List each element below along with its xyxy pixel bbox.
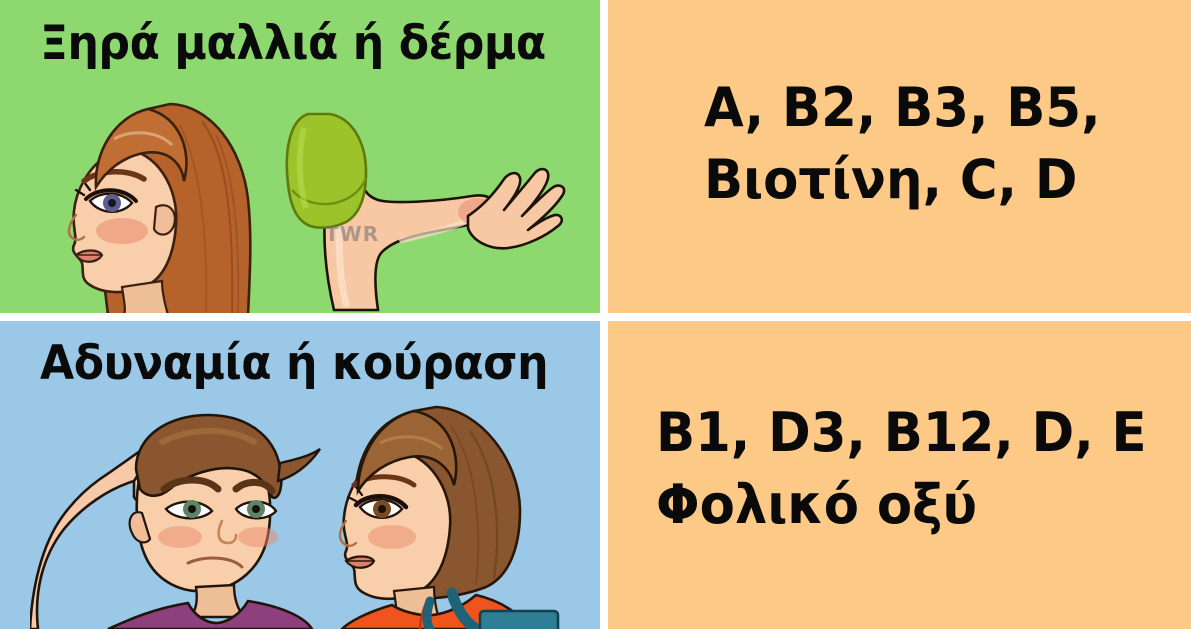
vitamin-line-1: B1, D3, B12, D, E xyxy=(656,397,1150,469)
woman-profile-auburn-hair-illustration xyxy=(52,95,302,313)
symptom-title-dry-hair-skin: Ξηρά μαλλιά ή δέρμα xyxy=(40,18,546,71)
vitamin-line-2: Φολικό οξύ xyxy=(656,469,1150,541)
vitamin-list-weakness-fatigue: B1, D3, B12, D, E Φολικό οξύ xyxy=(656,397,1150,541)
watermark-text: TWR xyxy=(325,222,379,246)
vitamin-list-dry-hair-skin: A, B2, B3, B5, Βιοτίνη, C, D xyxy=(704,72,1151,216)
tired-woman-illustration xyxy=(330,401,600,629)
vitamin-line-1: A, B2, B3, B5, xyxy=(704,72,1151,144)
dry-skin-arm-illustration xyxy=(282,112,572,312)
vitamin-deficiency-infographic: Ξηρά μαλλιά ή δέρμα xyxy=(0,0,1191,629)
symptom-panel-weakness-fatigue: Αδυναμία ή κούραση xyxy=(0,321,600,629)
vitamin-panel-weakness-fatigue: B1, D3, B12, D, E Φολικό οξύ xyxy=(608,321,1191,629)
symptom-panel-dry-hair-skin: Ξηρά μαλλιά ή δέρμα xyxy=(0,0,600,313)
tired-boy-illustration xyxy=(30,397,330,629)
vitamin-line-2: Βιοτίνη, C, D xyxy=(704,144,1151,216)
vitamin-panel-dry-hair-skin: A, B2, B3, B5, Βιοτίνη, C, D xyxy=(608,0,1191,313)
symptom-title-weakness-fatigue: Αδυναμία ή κούραση xyxy=(40,338,548,391)
